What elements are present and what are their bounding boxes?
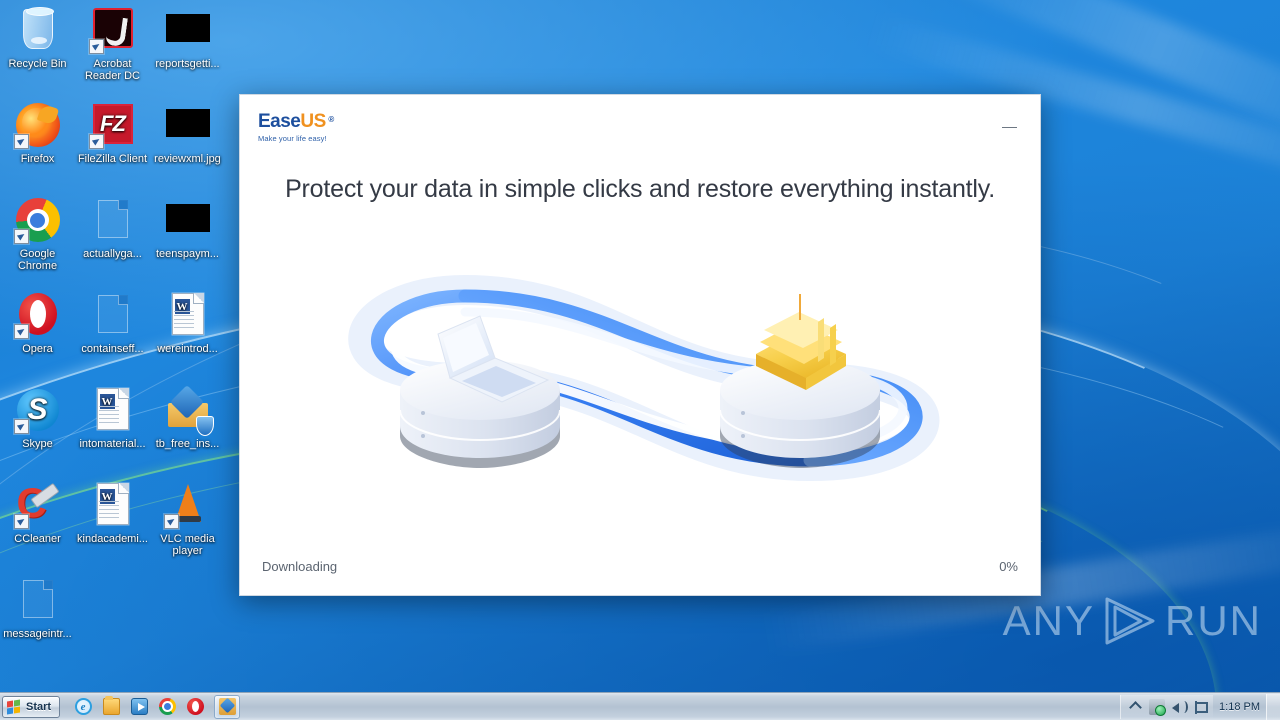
download-progress-percent: 0% bbox=[999, 559, 1018, 574]
desktop-icon[interactable]: kindacademi... bbox=[75, 481, 150, 545]
black-icon bbox=[164, 101, 212, 149]
minimize-icon bbox=[1002, 127, 1017, 128]
desktop-icon-label: containseff... bbox=[75, 343, 150, 355]
watermark-text-any: ANY bbox=[1003, 597, 1095, 645]
easeus-installer-icon bbox=[219, 698, 236, 715]
vlc-icon bbox=[164, 481, 212, 529]
chrome-icon bbox=[14, 196, 62, 244]
desktop-icon[interactable]: Opera bbox=[0, 291, 75, 355]
dialog-header: EaseUS® Make your life easy! bbox=[240, 95, 1040, 150]
blank-icon bbox=[14, 576, 62, 624]
taskbar-task-buttons bbox=[214, 695, 1120, 719]
recycle-icon bbox=[14, 6, 62, 54]
logo-tagline: Make your life easy! bbox=[258, 134, 327, 143]
start-button-label: Start bbox=[26, 701, 51, 713]
internet-explorer-icon bbox=[75, 698, 92, 715]
windows-explorer-icon bbox=[103, 698, 120, 715]
desktop-icon-label: Google Chrome bbox=[0, 248, 75, 272]
easeus-installer-window[interactable]: EaseUS® Make your life easy! Protect you… bbox=[239, 94, 1041, 596]
ff-icon bbox=[14, 101, 62, 149]
system-tray bbox=[1120, 695, 1213, 719]
desktop-icon[interactable]: reviewxml.jpg bbox=[150, 101, 225, 165]
windows-taskbar[interactable]: Start 1:18 PM bbox=[0, 692, 1280, 720]
desktop-icon-label: Recycle Bin bbox=[0, 58, 75, 70]
desktop-icon[interactable]: CCleaner bbox=[0, 481, 75, 545]
shortcut-arrow-icon bbox=[89, 134, 104, 149]
desktop-icon[interactable]: VLC media player bbox=[150, 481, 225, 557]
page-title: Protect your data in simple clicks and r… bbox=[240, 150, 1040, 204]
shortcut-arrow-icon bbox=[14, 229, 29, 244]
desktop-icon[interactable]: reportsgetti... bbox=[150, 6, 225, 70]
logo-text-us: US bbox=[300, 111, 325, 132]
media-player-icon bbox=[131, 698, 148, 715]
desktop-icon[interactable]: containseff... bbox=[75, 291, 150, 355]
taskbar-internet-explorer-button[interactable] bbox=[70, 695, 96, 719]
desktop-icon-label: Opera bbox=[0, 343, 75, 355]
desktop-icon[interactable]: actuallyga... bbox=[75, 196, 150, 260]
cc-icon bbox=[14, 481, 62, 529]
easeus-logo: EaseUS® Make your life easy! bbox=[258, 112, 327, 143]
taskbar-google-chrome-button[interactable] bbox=[154, 695, 180, 719]
desktop-icon-label: actuallyga... bbox=[75, 248, 150, 260]
desktop-icon-label: intomaterial... bbox=[75, 438, 150, 450]
desktop-icon-label: teenspaym... bbox=[150, 248, 225, 260]
hero-illustration bbox=[240, 204, 1040, 545]
dialog-footer: Downloading 0% bbox=[240, 545, 1040, 595]
taskbar-windows-explorer-button[interactable] bbox=[98, 695, 124, 719]
desktop-icon-label: kindacademi... bbox=[75, 533, 150, 545]
logo-text-ease: Ease bbox=[258, 111, 300, 132]
action-center-flag-icon[interactable] bbox=[1193, 699, 1209, 715]
black-icon bbox=[164, 6, 212, 54]
taskbar-opera-button[interactable] bbox=[182, 695, 208, 719]
desktop-icon-label: VLC media player bbox=[150, 533, 225, 557]
quick-launch-bar bbox=[70, 695, 208, 719]
shortcut-arrow-icon bbox=[14, 324, 29, 339]
watermark-text-run: RUN bbox=[1165, 597, 1262, 645]
desktop-icon[interactable]: Acrobat Reader DC bbox=[75, 6, 150, 82]
desktop-icon-label: Skype bbox=[0, 438, 75, 450]
fz-icon bbox=[89, 101, 137, 149]
pkg-icon bbox=[164, 386, 212, 434]
desktop-icon[interactable]: Recycle Bin bbox=[0, 6, 75, 70]
windows-logo-icon bbox=[7, 700, 22, 714]
desktop-icon-label: wereintrod... bbox=[150, 343, 225, 355]
desktop-icon[interactable]: Google Chrome bbox=[0, 196, 75, 272]
download-status-text: Downloading bbox=[262, 559, 337, 574]
google-chrome-icon bbox=[159, 698, 176, 715]
desktop-icon-label: FileZilla Client bbox=[75, 153, 150, 165]
desktop-icon-label: reportsgetti... bbox=[150, 58, 225, 70]
doc-icon bbox=[89, 481, 137, 529]
desktop-icon[interactable]: FileZilla Client bbox=[75, 101, 150, 165]
show-hidden-icons-chevron[interactable] bbox=[1127, 699, 1143, 715]
desktop-icon-label: CCleaner bbox=[0, 533, 75, 545]
taskbar-media-player-button[interactable] bbox=[126, 695, 152, 719]
desktop-icon-label: Acrobat Reader DC bbox=[75, 58, 150, 82]
shortcut-arrow-icon bbox=[14, 514, 29, 529]
desktop-icon-label: messageintr... bbox=[0, 628, 75, 640]
desktop-icon-label: tb_free_ins... bbox=[150, 438, 225, 450]
blank-icon bbox=[89, 196, 137, 244]
doc-icon bbox=[164, 291, 212, 339]
taskbar-clock[interactable]: 1:18 PM bbox=[1215, 701, 1264, 713]
opera-icon bbox=[14, 291, 62, 339]
desktop-icon[interactable]: Skype bbox=[0, 386, 75, 450]
start-button[interactable]: Start bbox=[2, 696, 60, 718]
desktop-icon[interactable]: wereintrod... bbox=[150, 291, 225, 355]
taskbar-easeus-installer-button[interactable] bbox=[214, 695, 240, 719]
show-desktop-button[interactable] bbox=[1266, 694, 1280, 720]
skype-icon bbox=[14, 386, 62, 434]
shortcut-arrow-icon bbox=[14, 134, 29, 149]
black-icon bbox=[164, 196, 212, 244]
shortcut-arrow-icon bbox=[164, 514, 179, 529]
volume-icon[interactable] bbox=[1171, 699, 1187, 715]
desktop-icon-label: reviewxml.jpg bbox=[150, 153, 225, 165]
anyrun-play-logo-icon bbox=[1101, 595, 1159, 647]
desktop-icon-label: Firefox bbox=[0, 153, 75, 165]
minimize-button[interactable] bbox=[998, 113, 1020, 133]
network-icon[interactable] bbox=[1149, 699, 1165, 715]
registered-trademark-icon: ® bbox=[328, 110, 333, 129]
desktop-icon[interactable]: intomaterial... bbox=[75, 386, 150, 450]
opera-icon bbox=[187, 698, 204, 715]
desktop-icon[interactable]: tb_free_ins... bbox=[150, 386, 225, 450]
desktop-icon[interactable]: messageintr... bbox=[0, 576, 75, 640]
desktop-icon[interactable]: Firefox bbox=[0, 101, 75, 165]
shortcut-arrow-icon bbox=[14, 419, 29, 434]
shortcut-arrow-icon bbox=[89, 39, 104, 54]
doc-icon bbox=[89, 386, 137, 434]
desktop-icon[interactable]: teenspaym... bbox=[150, 196, 225, 260]
blank-icon bbox=[89, 291, 137, 339]
shield-icon bbox=[196, 416, 214, 436]
anyrun-watermark: ANY RUN bbox=[1003, 595, 1262, 647]
acro-icon bbox=[89, 6, 137, 54]
